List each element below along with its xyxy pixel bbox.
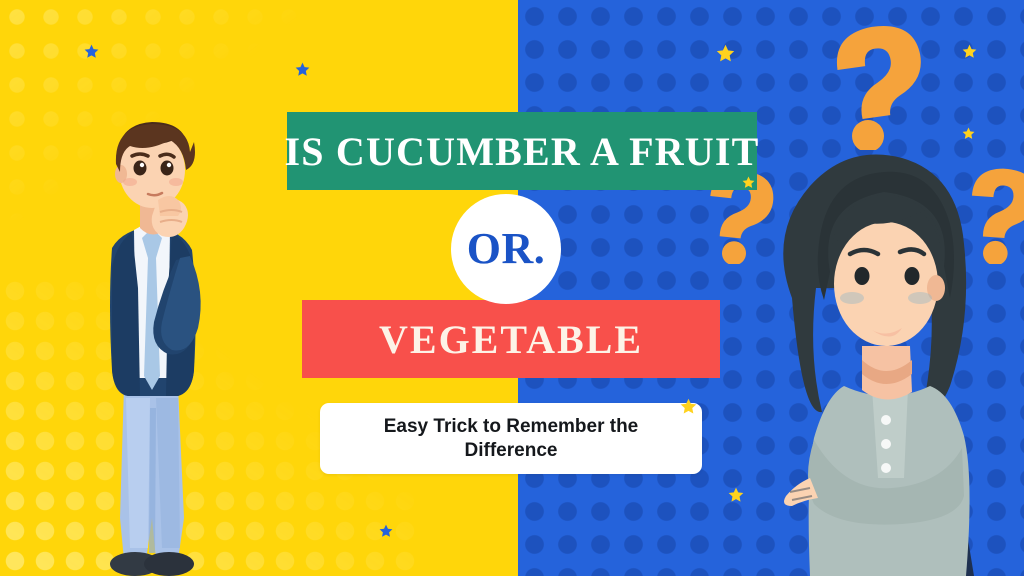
or-text: OR.	[467, 223, 546, 274]
headline-red-text: VEGETABLE	[379, 316, 643, 363]
subtitle-text: Easy Trick to Remember the Difference	[320, 415, 702, 461]
right-background-panel	[518, 0, 1024, 576]
headline-green-text: IS CUCUMBER A FRUIT	[284, 128, 759, 175]
headline-red-banner: VEGETABLE	[302, 300, 720, 378]
poster-canvas: IS CUCUMBER A FRUIT OR. VEGETABLE Easy T…	[0, 0, 1024, 576]
subtitle-card: Easy Trick to Remember the Difference	[320, 403, 702, 474]
or-circle-badge: OR.	[451, 194, 561, 304]
left-background-panel	[0, 0, 518, 576]
headline-green-banner: IS CUCUMBER A FRUIT	[287, 112, 757, 190]
